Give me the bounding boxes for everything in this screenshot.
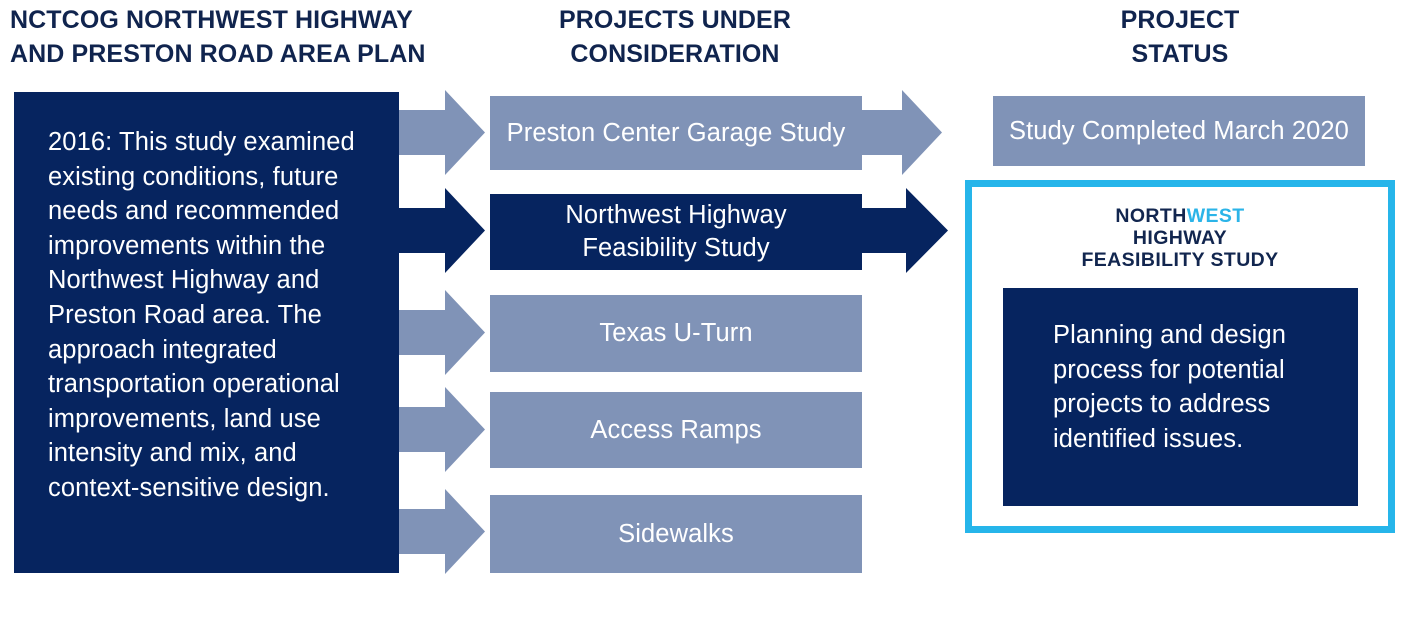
project-bar-northwest-highway-feasibility-study[interactable]: Northwest Highway Feasibility Study <box>490 194 862 270</box>
logo-west-text: WEST <box>1187 205 1245 227</box>
project-bar-access-ramps[interactable]: Access Ramps <box>490 392 862 468</box>
project-bar-preston-center-garage-study[interactable]: Preston Center Garage Study <box>490 96 862 170</box>
column-heading-status: PROJECT STATUS <box>965 4 1395 71</box>
logo-line-2: HIGHWAY <box>972 227 1388 249</box>
feasibility-study-description-text: Planning and design process for potentia… <box>1053 318 1328 456</box>
diagram-canvas: NCTCOG NORTHWEST HIGHWAY AND PRESTON ROA… <box>0 0 1412 639</box>
project-label: Northwest Highway Feasibility Study <box>565 199 786 265</box>
arrow-right-icon-to-project-1 <box>399 90 485 175</box>
column-heading-plan: NCTCOG NORTHWEST HIGHWAY AND PRESTON ROA… <box>10 4 480 71</box>
status-bar-study-completed: Study Completed March 2020 <box>993 96 1365 166</box>
status-card-feasibility-study[interactable]: NORTHWEST HIGHWAY FEASIBILITY STUDY Plan… <box>965 180 1395 533</box>
arrow-right-icon-to-status-2 <box>856 188 948 273</box>
logo-north-text: NORTH <box>1115 205 1186 227</box>
project-label: Sidewalks <box>618 518 734 551</box>
arrow-right-icon-to-project-5 <box>399 489 485 574</box>
arrow-right-icon-to-project-4 <box>399 387 485 472</box>
arrow-right-icon-to-status-1 <box>856 90 942 175</box>
project-label: Access Ramps <box>590 414 761 447</box>
feasibility-study-description-panel: Planning and design process for potentia… <box>1003 288 1358 506</box>
logo-line-1: NORTHWEST <box>972 205 1388 227</box>
project-bar-texas-u-turn[interactable]: Texas U-Turn <box>490 295 862 372</box>
project-bar-sidewalks[interactable]: Sidewalks <box>490 495 862 573</box>
area-plan-description-panel: 2016: This study examined existing condi… <box>14 92 399 573</box>
arrow-right-icon-to-project-2 <box>399 188 485 273</box>
arrow-right-icon-to-project-3 <box>399 290 485 375</box>
area-plan-description-text: 2016: This study examined existing condi… <box>48 125 369 506</box>
column-heading-projects: PROJECTS UNDER CONSIDERATION <box>480 4 870 71</box>
logo-line-3: FEASIBILITY STUDY <box>972 249 1388 271</box>
project-label: Preston Center Garage Study <box>507 117 846 150</box>
project-label: Texas U-Turn <box>599 317 752 350</box>
status-label: Study Completed March 2020 <box>1009 117 1349 146</box>
northwest-highway-feasibility-study-logo: NORTHWEST HIGHWAY FEASIBILITY STUDY <box>972 205 1388 271</box>
